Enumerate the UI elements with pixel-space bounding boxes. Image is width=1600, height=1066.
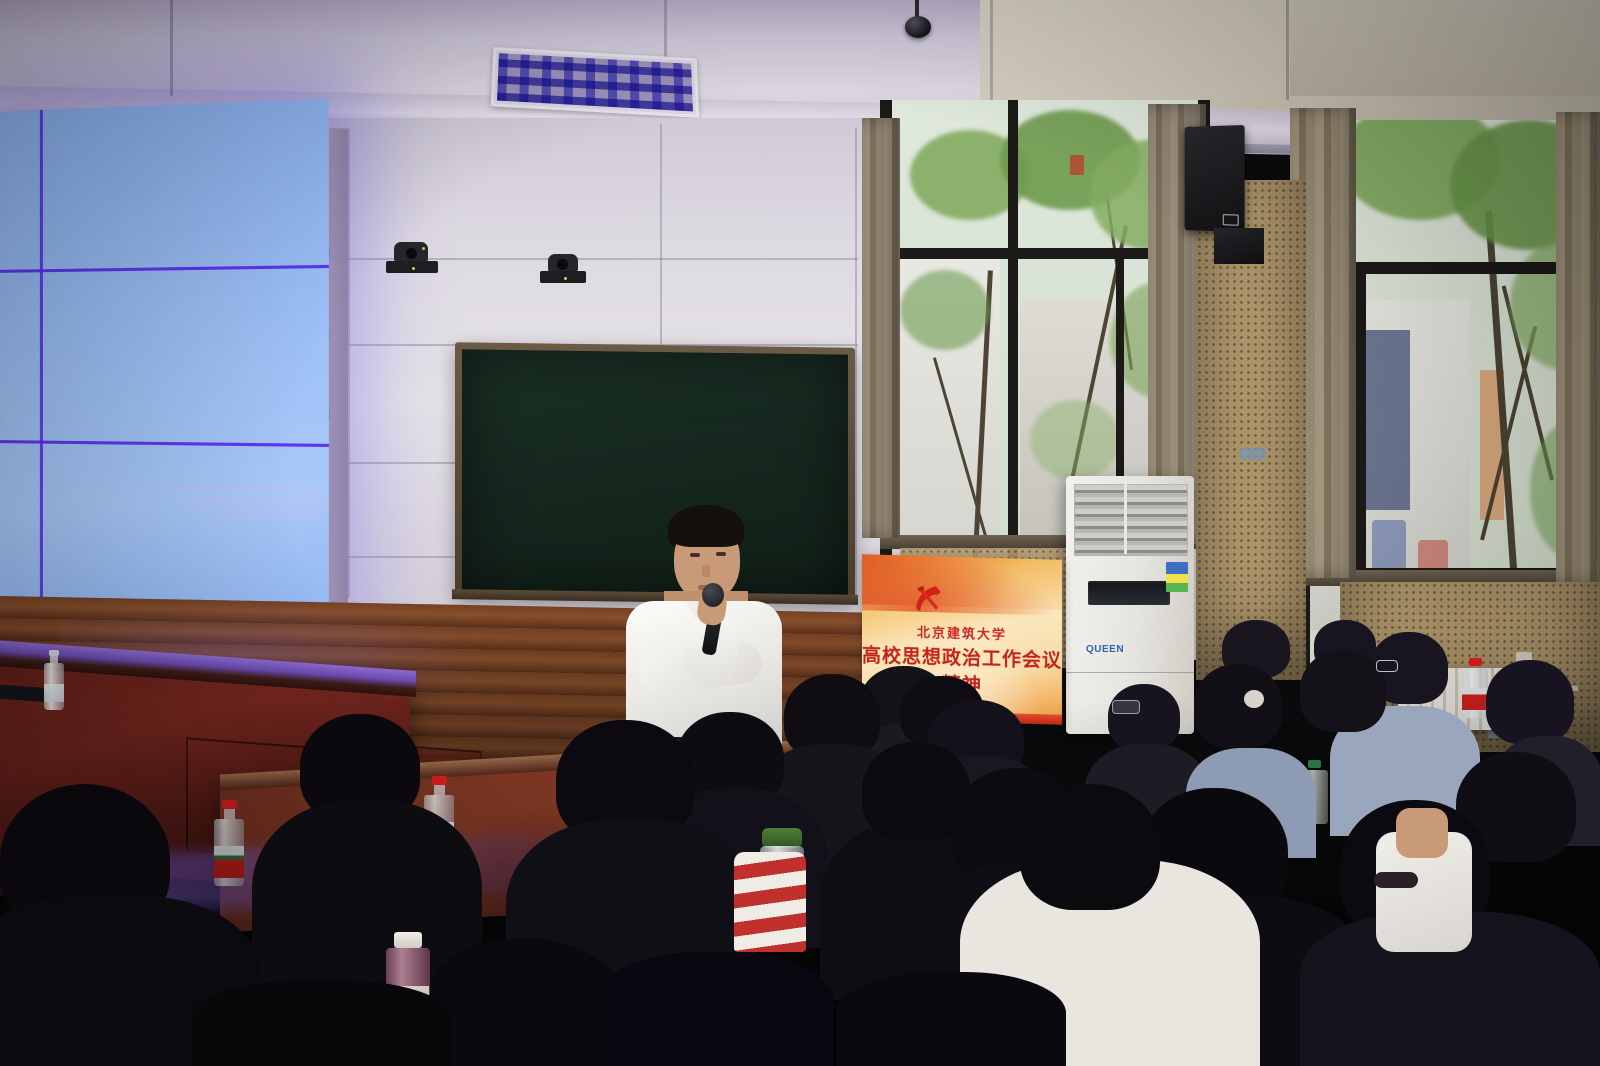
speaker-brand-logo bbox=[1223, 214, 1239, 226]
tumbler-cap bbox=[762, 828, 802, 848]
presenter-hairline bbox=[670, 517, 744, 547]
presenter-nose bbox=[702, 565, 710, 577]
ceiling-seam bbox=[170, 0, 173, 96]
ceiling-seam bbox=[1286, 0, 1289, 100]
led-glitch-line bbox=[173, 487, 323, 491]
audience-head bbox=[1486, 660, 1574, 744]
ac-panel-seam bbox=[1066, 672, 1194, 673]
light-diffuser bbox=[497, 53, 693, 111]
speaker-bracket bbox=[1214, 228, 1264, 264]
led-panel-seam bbox=[0, 440, 329, 447]
hair-clip bbox=[1244, 690, 1264, 708]
ptz-camera-right bbox=[540, 254, 586, 286]
led-video-wall[interactable] bbox=[0, 99, 329, 636]
ac-display-panel[interactable] bbox=[1088, 581, 1170, 605]
water-bottle-1[interactable] bbox=[214, 800, 244, 886]
led-glitch-line bbox=[218, 515, 326, 518]
hammer-and-sickle-icon bbox=[906, 581, 948, 616]
ac-vent-louvers bbox=[1074, 484, 1188, 556]
microphone-head bbox=[702, 583, 724, 607]
bottle-neck bbox=[50, 656, 58, 663]
ac-logo: QUEEN bbox=[1086, 644, 1124, 655]
presenter-eye-right bbox=[716, 552, 726, 556]
led-glitch-line bbox=[200, 497, 327, 501]
building-window bbox=[1360, 330, 1410, 510]
wall-sticker bbox=[1240, 448, 1266, 460]
lecture-hall-photo: QUEEN 北京建筑大学 高校思想政治工作会议精神 bbox=[0, 0, 1600, 1066]
water-bottle-podium[interactable] bbox=[44, 650, 64, 710]
led-glitch-line bbox=[190, 505, 328, 509]
eyeglasses-icon bbox=[1112, 700, 1140, 714]
presenter-eye-left bbox=[690, 553, 700, 557]
outdoor-sign bbox=[1070, 155, 1084, 175]
recessed-grille-light bbox=[491, 47, 700, 118]
foliage bbox=[900, 270, 990, 350]
bottle-cap bbox=[222, 800, 237, 809]
energy-efficiency-label bbox=[1166, 562, 1188, 592]
foliage bbox=[1030, 400, 1120, 480]
ptz-base bbox=[540, 271, 586, 283]
audience-head-glasses bbox=[1108, 684, 1180, 750]
wall-mounted-loudspeaker bbox=[1184, 125, 1244, 232]
banner-wave-accent bbox=[862, 554, 1062, 616]
ptz-lens bbox=[557, 259, 568, 270]
audience-hand bbox=[1396, 808, 1448, 858]
bottle-label bbox=[44, 684, 64, 702]
led-panel-seam bbox=[40, 110, 43, 624]
audience-head-bun bbox=[1194, 664, 1282, 748]
wrist-bracelet bbox=[1374, 872, 1418, 888]
audience-head-foreground bbox=[192, 980, 452, 1066]
ceiling-panel bbox=[1290, 0, 1600, 96]
ceiling-seam bbox=[990, 0, 993, 108]
ptz-camera-left bbox=[386, 242, 438, 276]
bottle-label-nongfu bbox=[1462, 688, 1488, 710]
bottle-neck bbox=[224, 809, 235, 819]
bottle-cap bbox=[1308, 760, 1321, 768]
water-bottle-radiator[interactable] bbox=[1462, 658, 1488, 718]
audience-head-foreground bbox=[836, 972, 1066, 1066]
bottle-cap bbox=[1469, 658, 1482, 666]
bottle-cap bbox=[432, 776, 447, 785]
bottle-label-nongfu bbox=[214, 846, 244, 878]
dome-camera bbox=[905, 16, 931, 38]
bottle-cap bbox=[394, 932, 422, 948]
striped-sleeve bbox=[734, 852, 806, 952]
curtain-right-b[interactable] bbox=[1556, 112, 1600, 582]
ptz-lens bbox=[406, 248, 417, 259]
audience-head-foreground bbox=[594, 952, 834, 1066]
ac-vent-divider bbox=[1124, 484, 1127, 554]
curtain-left[interactable] bbox=[862, 118, 900, 538]
bottle-neck bbox=[434, 785, 445, 795]
ptz-status-led bbox=[422, 247, 425, 250]
podium-cables bbox=[0, 684, 46, 702]
audience-head-foreground bbox=[1020, 784, 1160, 910]
eyeglasses-icon bbox=[1376, 660, 1398, 672]
ptz-power-led bbox=[564, 277, 567, 280]
led-panel-seam bbox=[0, 265, 329, 273]
audience-head bbox=[1300, 650, 1386, 732]
ptz-power-led bbox=[412, 267, 415, 270]
